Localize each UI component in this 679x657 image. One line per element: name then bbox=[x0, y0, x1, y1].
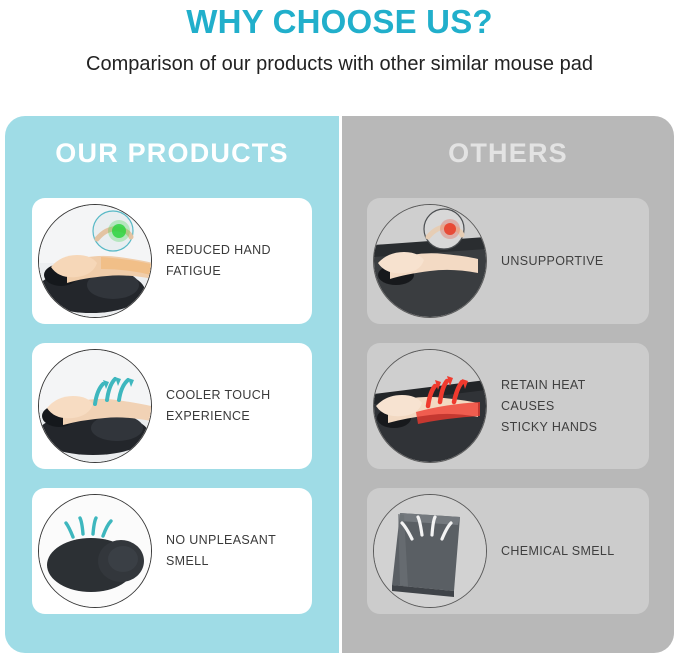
list-item-label-line1: RETAIN HEAT CAUSES bbox=[501, 378, 585, 413]
list-item-label: COOLER TOUCH EXPERIENCE bbox=[152, 385, 312, 427]
comparison-board: OUR PRODUCTS bbox=[5, 116, 674, 653]
column-heading-our-products: OUR PRODUCTS bbox=[5, 138, 339, 169]
hand-with-teal-cool-airflow-arrows-icon bbox=[38, 349, 152, 463]
our-products-row-list: REDUCED HAND FATIGUE bbox=[5, 198, 339, 614]
column-heading-others: OTHERS bbox=[342, 138, 674, 169]
flat-hand-on-plain-pad-with-red-pressure-inset-icon bbox=[373, 204, 487, 318]
list-item-label: UNSUPPORTIVE bbox=[487, 251, 649, 272]
gray-mat-with-white-odor-wisps-icon bbox=[373, 494, 487, 608]
list-item[interactable]: COOLER TOUCH EXPERIENCE bbox=[32, 343, 312, 469]
list-item[interactable]: NO UNPLEASANT SMELL bbox=[32, 488, 312, 614]
list-item[interactable]: RETAIN HEAT CAUSESSTICKY HANDS bbox=[367, 343, 649, 469]
list-item-label: RETAIN HEAT CAUSESSTICKY HANDS bbox=[487, 375, 649, 438]
page-title: WHY CHOOSE US? bbox=[0, 2, 679, 42]
others-row-list: UNSUPPORTIVE bbox=[342, 198, 674, 614]
list-item-label: NO UNPLEASANT SMELL bbox=[152, 530, 312, 572]
column-others: OTHERS bbox=[342, 116, 674, 653]
list-item[interactable]: CHEMICAL SMELL bbox=[367, 488, 649, 614]
column-our-products: OUR PRODUCTS bbox=[5, 116, 339, 653]
hand-on-ergonomic-wrist-rest-with-green-comfort-inset-icon bbox=[38, 204, 152, 318]
mouse-pad-top-view-with-teal-fresh-vapor-wisps-icon bbox=[38, 494, 152, 608]
list-item[interactable]: UNSUPPORTIVE bbox=[367, 198, 649, 324]
list-item[interactable]: REDUCED HAND FATIGUE bbox=[32, 198, 312, 324]
list-item-label: REDUCED HAND FATIGUE bbox=[152, 240, 312, 282]
list-item-label: CHEMICAL SMELL bbox=[487, 541, 649, 562]
page-header: WHY CHOOSE US? Comparison of our product… bbox=[0, 0, 679, 112]
list-item-label-line2: STICKY HANDS bbox=[501, 420, 597, 434]
hand-with-red-heat-arrows-icon bbox=[373, 349, 487, 463]
page-subtitle: Comparison of our products with other si… bbox=[0, 50, 679, 78]
